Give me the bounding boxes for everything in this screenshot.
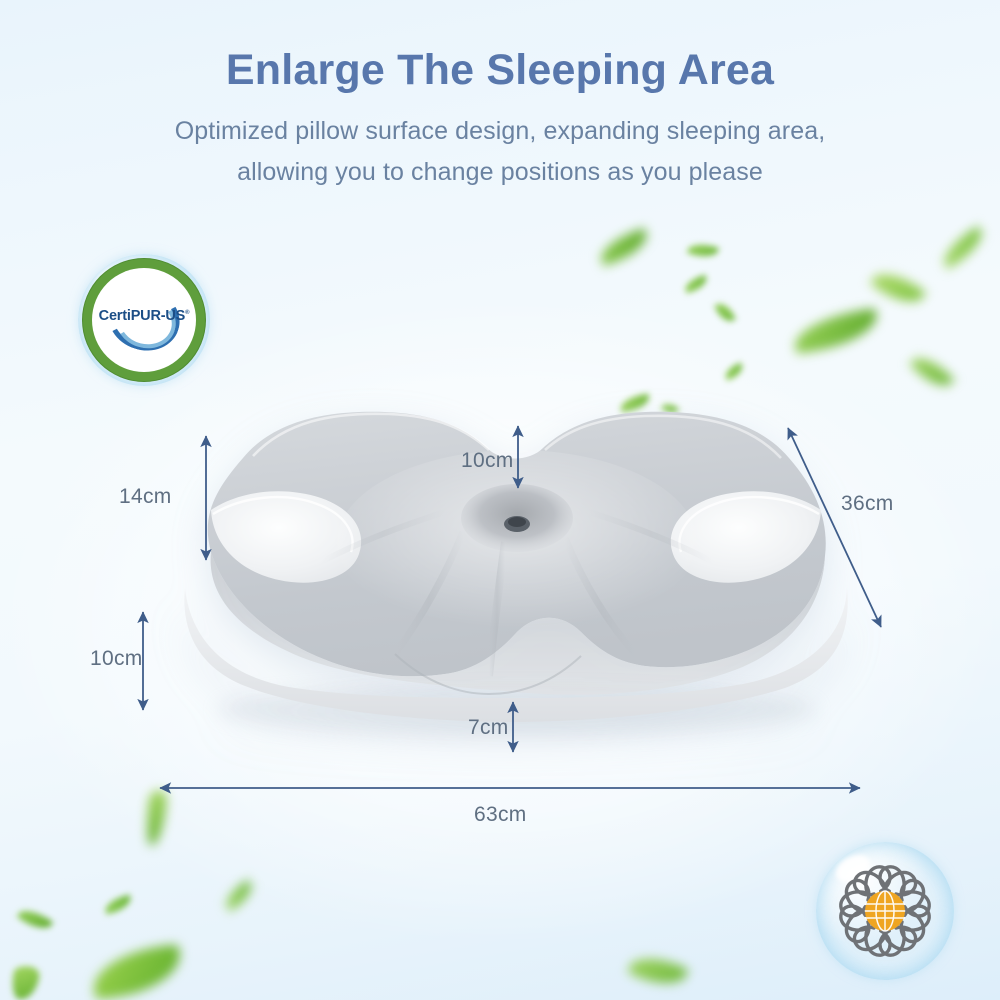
leaf-icon	[683, 275, 710, 294]
subtitle-line-1: Optimized pillow surface design, expandi…	[0, 111, 1000, 152]
leaf-icon	[791, 308, 881, 354]
dimension-label-center-depth: 10cm	[461, 449, 514, 473]
leaf-icon	[596, 228, 652, 266]
dimension-label-notch-depth: 7cm	[468, 716, 509, 740]
dimension-label-height-back: 14cm	[119, 485, 172, 509]
certipur-us-badge: CONTAINS CERTIFIED FLEXIBLE POLYURETHANE…	[78, 254, 210, 386]
leaf-icon	[9, 964, 41, 1000]
dimension-label-width-total: 63cm	[474, 803, 527, 827]
infographic-page: Enlarge The Sleeping Area Optimized pill…	[0, 0, 1000, 1000]
leaf-icon	[89, 944, 184, 1000]
pillow-product-image	[145, 392, 885, 752]
leaf-icon	[714, 300, 736, 326]
leaf-icon	[870, 264, 927, 313]
leaf-icon	[687, 241, 719, 261]
certipur-wordmark: CertiPUR-US®	[78, 308, 210, 324]
leaf-icon	[723, 362, 746, 380]
subtitle-line-2: allowing you to change positions as you …	[0, 152, 1000, 193]
globe-flower-logo-icon	[816, 842, 954, 980]
certipur-name-text: CertiPUR-US	[99, 308, 185, 324]
leaf-icon	[17, 904, 54, 935]
page-subtitle: Optimized pillow surface design, expandi…	[0, 93, 1000, 192]
leaf-icon	[144, 789, 168, 847]
leaf-icon	[221, 879, 257, 911]
center-ear-hole-inner	[508, 517, 526, 527]
pillow-illustration	[145, 392, 885, 752]
oeko-tex-badge	[816, 842, 954, 980]
certipur-trademark: ®	[185, 310, 189, 316]
leaf-icon	[627, 948, 689, 993]
header-block: Enlarge The Sleeping Area Optimized pill…	[0, 0, 1000, 192]
leaf-icon	[103, 894, 133, 914]
dimension-label-height-front: 10cm	[90, 647, 143, 671]
page-title: Enlarge The Sleeping Area	[0, 0, 1000, 93]
dimension-label-depth-diagonal: 36cm	[841, 492, 894, 516]
leaf-icon	[937, 226, 989, 270]
leaf-icon	[909, 350, 955, 395]
